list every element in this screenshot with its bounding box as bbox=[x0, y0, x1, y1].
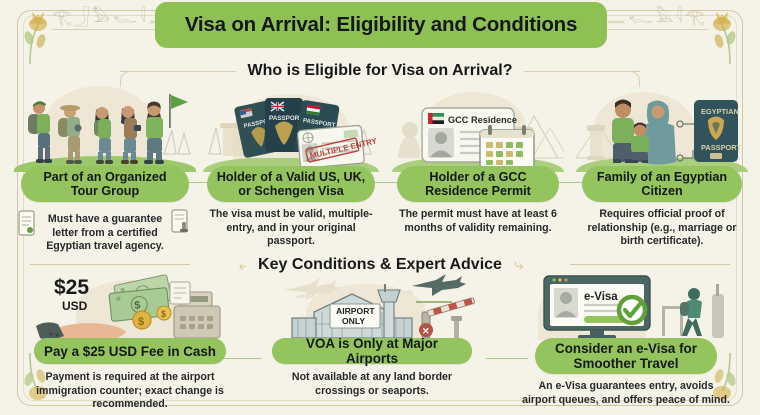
condition-pill-airport-only: VOA is Only at Major Airports bbox=[272, 338, 472, 364]
svg-text:✕: ✕ bbox=[422, 326, 430, 336]
pill-connector bbox=[486, 358, 528, 359]
condition-pill-label: Consider an e-Visa for Smoother Travel bbox=[543, 341, 709, 371]
svg-text:$: $ bbox=[138, 316, 144, 328]
svg-text:$: $ bbox=[161, 309, 166, 319]
eligibility-pill-label: Part of an Organized Tour Group bbox=[29, 170, 181, 198]
eligibility-desc: Requires official proof of relationship … bbox=[579, 208, 745, 249]
swirl-ornament-left: ⤶ bbox=[239, 255, 247, 275]
svg-text:PASSPORT: PASSPORT bbox=[701, 143, 742, 152]
page-title-text: Visa on Arrival: Eligibility and Conditi… bbox=[185, 13, 577, 37]
section2-heading: ⤶ Key Conditions & Expert Advice ⤷ bbox=[0, 255, 760, 275]
airport-sign-line1: AIRPORT bbox=[336, 306, 375, 316]
eligibility-desc: Must have a guarantee letter from a cert… bbox=[14, 213, 196, 254]
condition-card-cash-fee: $25 USD $ $ $ $ bbox=[24, 272, 236, 412]
eligibility-pill-valid-visa: Holder of a Valid US, UK, or Schengen Vi… bbox=[207, 166, 375, 202]
document-icon bbox=[16, 209, 38, 239]
eligibility-pill-label: Holder of a GCC Residence Permit bbox=[405, 170, 551, 198]
evisa-screen-label: e-Visa bbox=[584, 291, 618, 303]
eligibility-card-gcc-permit: GCC Residence bbox=[392, 80, 564, 235]
family-illustration: EGYPTIAN PASSPORT bbox=[576, 80, 748, 172]
tour-group-illustration bbox=[14, 80, 196, 172]
svg-text:$: $ bbox=[134, 299, 141, 312]
eligibility-desc: The visa must be valid, multiple-entry, … bbox=[207, 208, 375, 249]
eligibility-pill-gcc-permit: Holder of a GCC Residence Permit bbox=[397, 166, 559, 202]
fee-amount-text: $25 bbox=[54, 276, 89, 299]
lotus-flower-icon bbox=[22, 8, 56, 66]
eligibility-desc: The permit must have at least 6 months o… bbox=[396, 208, 560, 235]
page-title: Visa on Arrival: Eligibility and Conditi… bbox=[155, 2, 607, 48]
condition-pill-evisa: Consider an e-Visa for Smoother Travel bbox=[535, 338, 717, 374]
swirl-ornament-right: ⤷ bbox=[514, 255, 522, 275]
eligibility-pill-label: Family of an Egyptian Citizen bbox=[590, 170, 734, 198]
cash-illustration: $25 USD $ $ $ $ bbox=[24, 272, 236, 342]
eligibility-pill-tour-group: Part of an Organized Tour Group bbox=[21, 166, 189, 202]
section1-heading: Who is Eligible for Visa on Arrival? bbox=[0, 62, 760, 80]
svg-text:GCC Residence: GCC Residence bbox=[448, 115, 517, 125]
eligibility-pill-family: Family of an Egyptian Citizen bbox=[582, 166, 742, 202]
condition-pill-cash-fee: Pay a $25 USD Fee in Cash bbox=[34, 338, 226, 364]
eligibility-card-valid-visa: PASSPORT PASSPORT bbox=[203, 80, 379, 249]
infographic-page: 𓂀𓃀𓅃𓆑𓇋𓈖 𓅃𓈖𓆑𓅓𓇋𓂀 Visa on Arrival: Eligibili… bbox=[0, 0, 760, 415]
stamp-icon bbox=[170, 209, 194, 239]
fee-currency-text: USD bbox=[62, 299, 88, 313]
condition-card-evisa: e-Visa bbox=[520, 272, 732, 407]
condition-card-airport-only: AIRPORT ONLY ✕ bbox=[266, 272, 478, 398]
evisa-illustration: e-Visa bbox=[520, 272, 732, 342]
condition-pill-label: VOA is Only at Major Airports bbox=[280, 336, 464, 366]
eligibility-card-family: EGYPTIAN PASSPORT Family of an Egyptian … bbox=[576, 80, 748, 249]
section2-heading-text: Key Conditions & Expert Advice bbox=[246, 256, 514, 274]
eligibility-card-tour-group: Part of an Organized Tour Group Must hav… bbox=[14, 80, 196, 254]
airport-sign-line2: ONLY bbox=[342, 316, 365, 326]
gcc-card-illustration: GCC Residence bbox=[392, 80, 564, 172]
condition-desc: Payment is required at the airport immig… bbox=[24, 371, 236, 412]
hieroglyph-rule-right bbox=[600, 29, 708, 30]
passports-illustration: PASSPORT PASSPORT bbox=[203, 80, 379, 172]
lotus-flower-icon bbox=[704, 8, 738, 66]
airport-illustration: AIRPORT ONLY ✕ bbox=[266, 272, 478, 342]
condition-pill-label: Pay a $25 USD Fee in Cash bbox=[44, 344, 216, 359]
condition-desc: An e-Visa guarantees entry, avoids airpo… bbox=[521, 380, 731, 407]
svg-text:EGYPTIAN: EGYPTIAN bbox=[701, 107, 739, 116]
condition-desc: Not available at any land border crossin… bbox=[268, 371, 476, 398]
svg-text:PASSPORT: PASSPORT bbox=[269, 115, 303, 122]
pill-connector bbox=[222, 358, 262, 359]
section1-heading-text: Who is Eligible for Visa on Arrival? bbox=[236, 62, 525, 80]
hieroglyph-rule-left bbox=[52, 29, 160, 30]
eligibility-pill-label: Holder of a Valid US, UK, or Schengen Vi… bbox=[215, 170, 367, 198]
hieroglyph-band-left: 𓂀𓃀𓅃𓆑𓇋𓈖 bbox=[52, 10, 171, 26]
